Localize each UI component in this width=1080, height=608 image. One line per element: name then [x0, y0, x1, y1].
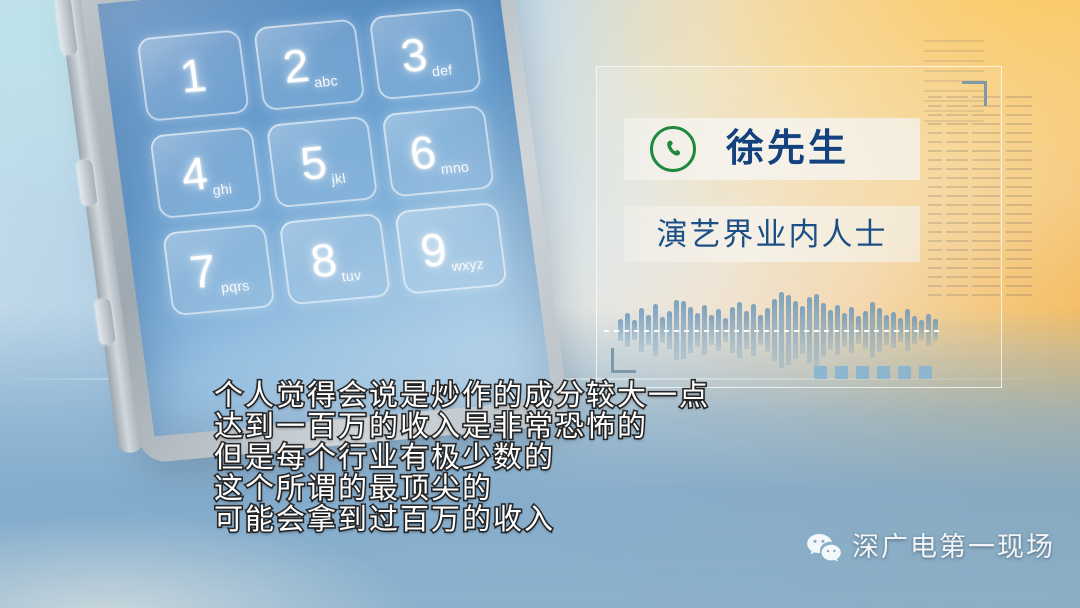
waveform-marker-square [898, 366, 911, 379]
keypad-digit: 2 [280, 42, 312, 90]
waveform-marker-square [835, 366, 848, 379]
subtitle-line: 这个所谓的最顶尖的 [214, 474, 710, 505]
keypad-digit: 3 [398, 31, 430, 79]
keypad-key-8: 8tuv [278, 213, 391, 306]
caller-name-panel: 徐先生 [624, 118, 920, 180]
caller-role: 演艺界业内人士 [657, 219, 888, 250]
waveform-marker-square [919, 366, 932, 379]
keypad-key-1: 1 [136, 29, 249, 122]
keypad-key-9: 9wxyz [394, 202, 507, 295]
subtitle-line: 但是每个行业有极少数的 [214, 443, 710, 474]
subtitle-line: 达到一百万的收入是非常恐怖的 [214, 412, 710, 443]
waveform-marker-square [877, 366, 890, 379]
caller-role-panel: 演艺界业内人士 [624, 206, 920, 262]
keypad-letters: mno [440, 158, 470, 176]
waveform-marker-squares [814, 366, 932, 379]
caller-name: 徐先生 [726, 130, 849, 168]
keypad-digit: 9 [418, 226, 450, 274]
channel-name: 深广电第一现场 [852, 534, 1055, 561]
waveform-marker-square [814, 366, 827, 379]
subtitle-block: 个人觉得会说是炒作的成分较大一点达到一百万的收入是非常恐怖的但是每个行业有极少数… [214, 381, 710, 536]
audio-waveform [618, 282, 938, 378]
keypad-letters: ghi [212, 180, 234, 198]
keypad-letters: def [431, 62, 453, 80]
keypad-key-3: 3def [369, 8, 482, 101]
keypad-letters: wxyz [451, 255, 485, 274]
keypad-digit: 4 [179, 150, 211, 198]
decorative-microtext-top [924, 40, 984, 130]
keypad-letters: tuv [341, 267, 363, 285]
keypad-letters: abc [313, 72, 338, 90]
keypad-digit: 7 [187, 247, 219, 295]
phone-screen: 12abc3def4ghi5jkl6mno7pqrs8tuv9wxyz # [98, 0, 553, 436]
keypad-key-4: 4ghi [149, 126, 262, 219]
keypad-key-6: 6mno [382, 105, 495, 198]
keypad-letters: pqrs [220, 277, 250, 295]
keypad-key-5: 5jkl [265, 116, 378, 209]
keypad-letters: jkl [331, 170, 347, 187]
subtitle-line: 可能会拿到过百万的收入 [214, 505, 710, 536]
keypad-digit: 8 [308, 236, 340, 284]
keypad-key-7: 7pqrs [162, 224, 275, 317]
broadcast-screen: 12abc3def4ghi5jkl6mno7pqrs8tuv9wxyz # 徐先… [0, 0, 1080, 608]
phone-handset-icon [650, 126, 696, 172]
wechat-icon [806, 532, 842, 562]
phone-keypad: 12abc3def4ghi5jkl6mno7pqrs8tuv9wxyz [136, 8, 507, 317]
waveform-center-line [604, 330, 944, 332]
keypad-digit: 1 [177, 52, 209, 100]
channel-watermark: 深广电第一现场 [806, 532, 1055, 562]
keypad-key-2: 2abc [253, 18, 366, 111]
keypad-digit: 5 [298, 139, 330, 187]
subtitle-line: 个人觉得会说是炒作的成分较大一点 [214, 381, 710, 412]
waveform-marker-square [856, 366, 869, 379]
keypad-digit: 6 [407, 129, 439, 177]
